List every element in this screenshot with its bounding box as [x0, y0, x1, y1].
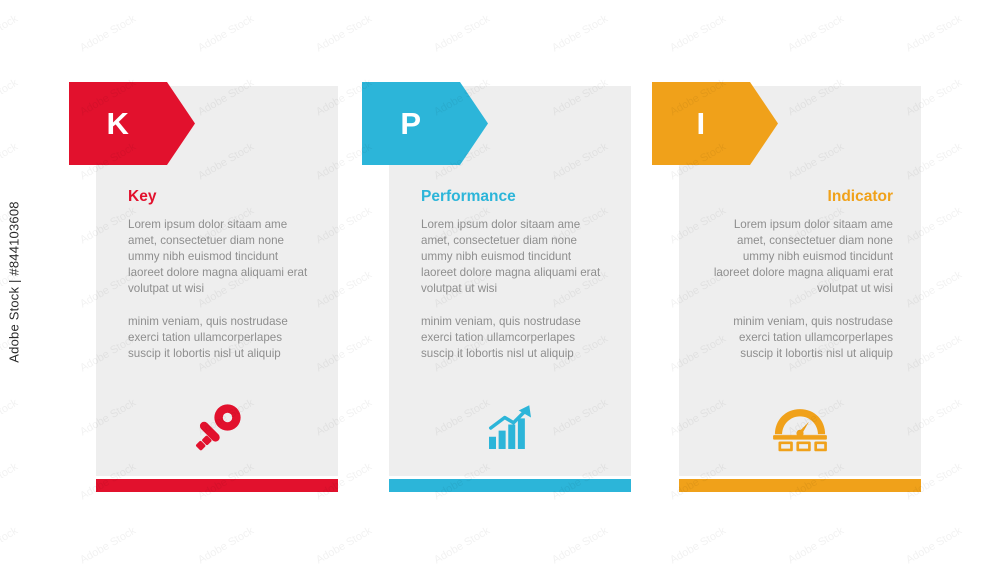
watermark-band: Adobe Stock | #844103608	[0, 0, 46, 563]
card-paragraph-1: Lorem ipsum dolor sitaam ame amet, conse…	[708, 217, 893, 297]
kpi-card-performance[interactable]: P Performance Lorem ipsum dolor sitaam a…	[389, 86, 631, 492]
infographic-stage: K Key Lorem ipsum dolor sitaam ame amet,…	[0, 0, 1000, 563]
letter-ribbon-key: K	[69, 82, 195, 165]
ribbon-letter: I	[652, 82, 750, 165]
ribbon-letter: P	[362, 82, 460, 165]
ribbon-letter: K	[69, 82, 167, 165]
kpi-card-key[interactable]: K Key Lorem ipsum dolor sitaam ame amet,…	[96, 86, 338, 492]
card-paragraph-2: minim veniam, quis nostrudase exerci tat…	[128, 314, 313, 362]
card-paragraph-2: minim veniam, quis nostrudase exerci tat…	[708, 314, 893, 362]
card-title: Performance	[421, 188, 516, 206]
letter-ribbon-indicator: I	[652, 82, 778, 165]
gauge-icon	[679, 396, 921, 460]
kpi-card-indicator[interactable]: I Indicator Lorem ipsum dolor sitaam ame…	[679, 86, 921, 492]
card-title: Key	[128, 188, 156, 206]
card-paragraph-1: Lorem ipsum dolor sitaam ame amet, conse…	[421, 217, 606, 297]
card-underline	[96, 479, 338, 492]
watermark-id-text: Adobe Stock | #844103608	[7, 201, 22, 362]
card-paragraph-1: Lorem ipsum dolor sitaam ame amet, conse…	[128, 217, 313, 297]
letter-ribbon-performance: P	[362, 82, 488, 165]
growth-chart-icon	[389, 396, 631, 460]
card-underline	[389, 479, 631, 492]
card-underline	[679, 479, 921, 492]
card-title: Indicator	[828, 188, 893, 206]
key-icon	[96, 396, 338, 460]
card-paragraph-2: minim veniam, quis nostrudase exerci tat…	[421, 314, 606, 362]
